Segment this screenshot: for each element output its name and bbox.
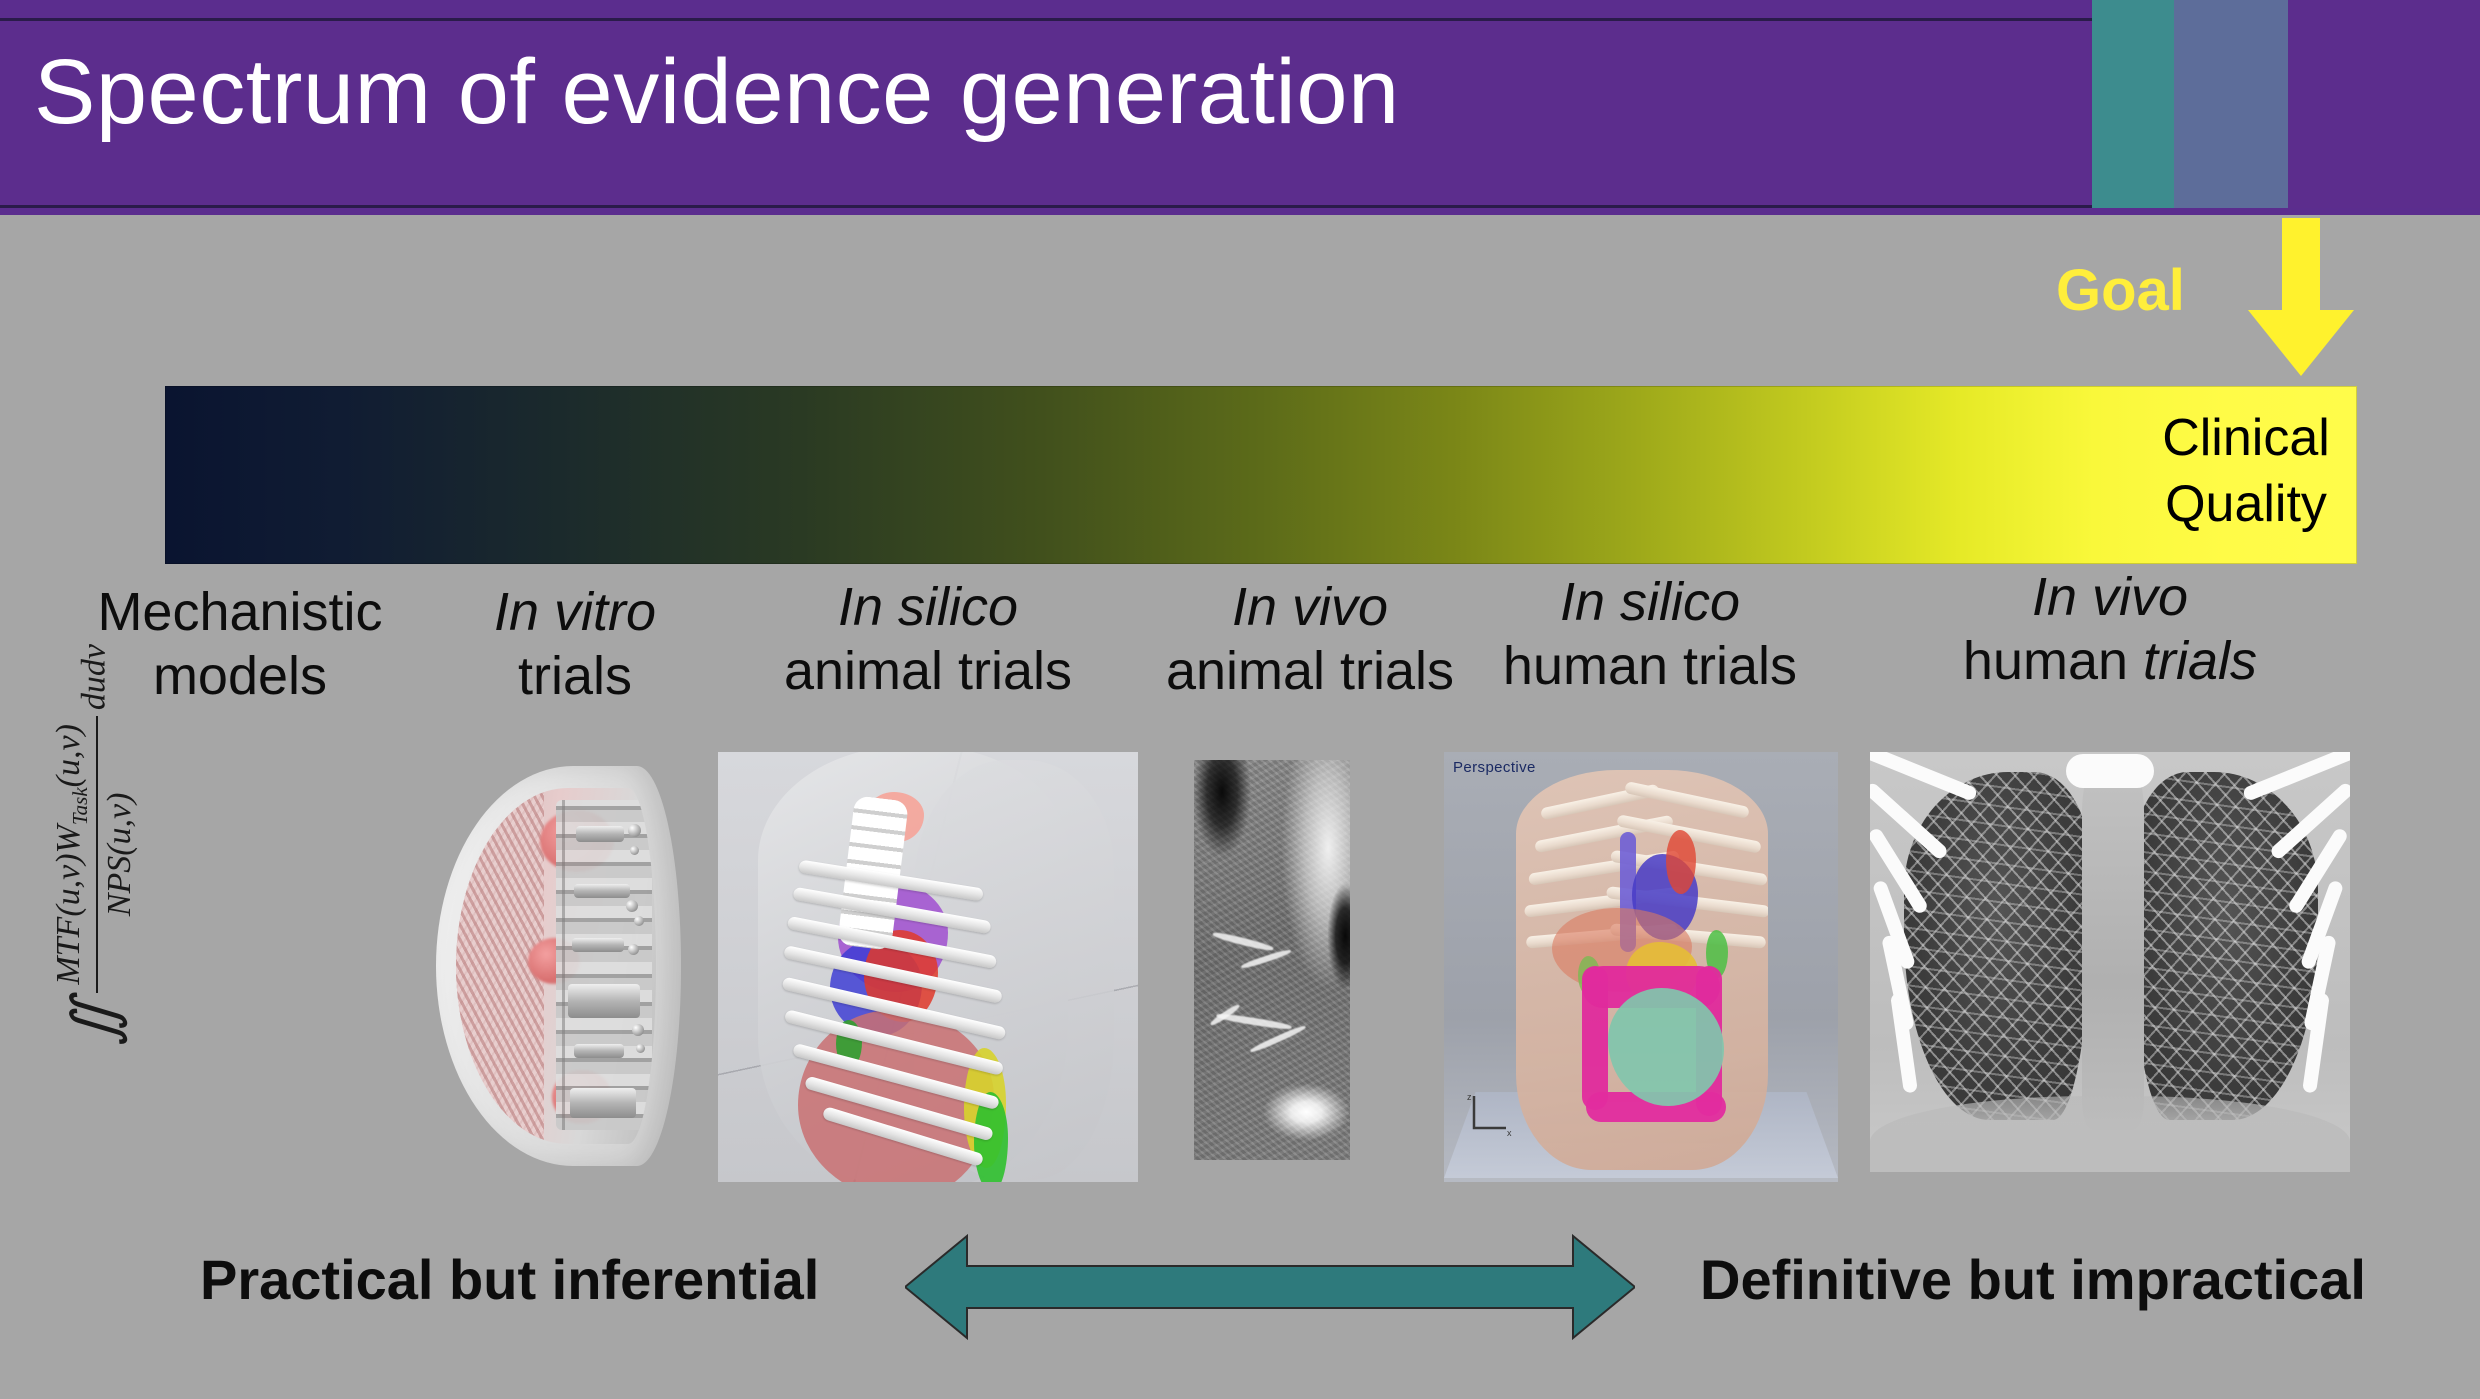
formula-differential: dudv: [75, 644, 112, 710]
stage-label-in-vivo-human-trials: In vivo human trials: [1890, 565, 2330, 693]
stage-line1: In vivo: [1232, 577, 1388, 637]
stage-line1: In vivo: [2032, 567, 2188, 627]
formula-subscript-task: Task: [68, 787, 92, 825]
svg-text:z: z: [1467, 1092, 1472, 1102]
formula-w: W: [50, 825, 87, 853]
in-vitro-phantom-image: [430, 752, 700, 1182]
stage-label-in-silico-animal-trials: In silico animal trials: [718, 575, 1138, 703]
stage-line2-pre: human: [1963, 631, 2143, 691]
definitive-but-impractical-label: Definitive but impractical: [1700, 1248, 2366, 1312]
in-silico-animal-render-image: [718, 752, 1138, 1182]
double-integral-glyph: ∬: [61, 999, 127, 1046]
stage-line1: In silico: [1560, 572, 1740, 632]
in-vivo-human-ct-image: [1870, 752, 2350, 1172]
svg-text:x: x: [1507, 1128, 1512, 1138]
stage-line2: trials: [518, 646, 632, 706]
stage-line2: animal trials: [784, 641, 1072, 701]
formula-numerator: MTF(u,v)WTask(u,v): [50, 716, 98, 993]
perspective-viewport-label: Perspective: [1453, 759, 1536, 776]
in-vivo-animal-radiograph-image: [1194, 760, 1350, 1160]
stage-line2: animal trials: [1166, 641, 1454, 701]
clinical-quality-line1: Clinical: [2162, 409, 2330, 467]
header-accent-slate: [2174, 0, 2288, 208]
double-headed-arrow-icon: [905, 1222, 1635, 1352]
down-arrow-icon: [2242, 218, 2360, 378]
stage-label-in-silico-human-trials: In silico human trials: [1450, 570, 1850, 698]
mtf-nps-formula: ∬MTF(u,v)WTask(u,v)NPS(u,v)dudv: [50, 630, 139, 1060]
stage-line2-italic: trials: [2143, 631, 2257, 691]
stage-label-in-vitro-trials: In vitro trials: [430, 580, 720, 708]
formula-fraction: MTF(u,v)WTask(u,v)NPS(u,v): [50, 716, 139, 993]
goal-label: Goal: [2056, 260, 2185, 322]
evidence-spectrum-gradient-bar: [165, 386, 2357, 564]
stage-line2: models: [153, 646, 327, 706]
stage-line1: Mechanistic: [97, 582, 382, 642]
stage-line1: In silico: [838, 577, 1018, 637]
practical-but-inferential-label: Practical but inferential: [200, 1248, 819, 1312]
stage-line2: human trials: [1503, 636, 1797, 696]
slide-canvas: Spectrum of evidence generation Goal Cli…: [0, 0, 2480, 1399]
header-accent-teal: [2092, 0, 2174, 208]
formula-args-1: (u,v): [50, 853, 87, 916]
formula-args-2: (u,v): [50, 724, 87, 787]
axis-gizmo-icon: z x: [1466, 1092, 1514, 1138]
formula-mtf: MTF: [50, 917, 87, 985]
formula-denominator: NPS(u,v): [98, 716, 139, 993]
in-silico-human-render-image: Perspective z x: [1444, 752, 1838, 1182]
stage-line1: In vitro: [494, 582, 656, 642]
clinical-quality-line2: Quality: [2165, 475, 2327, 533]
page-title: Spectrum of evidence generation: [34, 38, 1400, 146]
header-accent-purple: [2288, 0, 2480, 208]
clinical-quality-label: Clinical Quality: [2146, 405, 2346, 537]
